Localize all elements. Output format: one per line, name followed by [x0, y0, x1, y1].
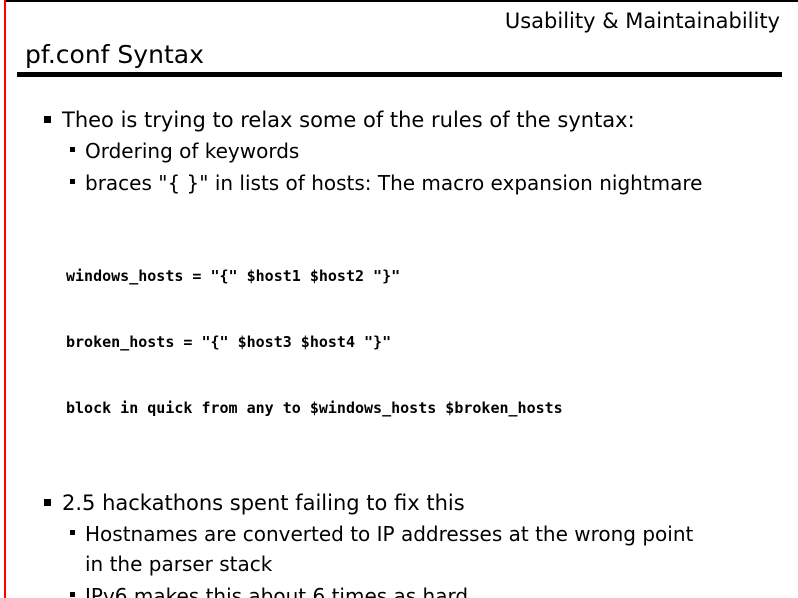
- list-item: Theo is trying to relax some of the rule…: [0, 106, 798, 134]
- slide-content: Theo is trying to relax some of the rule…: [0, 106, 798, 598]
- page-title: pf.conf Syntax: [25, 40, 204, 70]
- bullet-text: Hostnames are converted to IP addresses …: [85, 519, 715, 579]
- list-item: 2.5 hackathons spent failing to fix this: [0, 489, 798, 517]
- square-bullet-icon: [70, 592, 75, 597]
- bullet-text: 2.5 hackathons spent failing to fix this: [62, 489, 465, 517]
- running-title: Usability & Maintainability: [505, 9, 780, 34]
- bullet-text: Ordering of keywords: [85, 136, 299, 166]
- square-bullet-icon: [44, 499, 51, 506]
- square-bullet-icon: [44, 116, 51, 123]
- square-bullet-icon: [70, 147, 75, 152]
- bullet-text: braces "{ }" in lists of hosts: The macr…: [85, 168, 702, 198]
- square-bullet-icon: [70, 179, 75, 184]
- code-line: broken_hosts = "{" $host3 $host4 "}": [66, 331, 798, 353]
- list-item: IPv6 makes this about 6 times as hard: [0, 581, 798, 598]
- list-item: Ordering of keywords: [0, 136, 798, 166]
- bullet-text: Theo is trying to relax some of the rule…: [62, 106, 635, 134]
- square-bullet-icon: [70, 530, 75, 535]
- bullet-group-two: 2.5 hackathons spent failing to fix this…: [0, 489, 798, 598]
- code-line: windows_hosts = "{" $host1 $host2 "}": [66, 265, 798, 287]
- code-line: block in quick from any to $windows_host…: [66, 397, 798, 419]
- bullet-group-one: Theo is trying to relax some of the rule…: [0, 106, 798, 198]
- list-item: braces "{ }" in lists of hosts: The macr…: [0, 168, 798, 198]
- bullet-text: IPv6 makes this about 6 times as hard: [85, 581, 468, 598]
- list-item: Hostnames are converted to IP addresses …: [0, 519, 798, 579]
- top-divider: [6, 0, 798, 2]
- slide-canvas: Usability & Maintainability pf.conf Synt…: [0, 0, 798, 598]
- code-block: windows_hosts = "{" $host1 $host2 "}" br…: [66, 221, 798, 463]
- title-divider: [17, 72, 782, 77]
